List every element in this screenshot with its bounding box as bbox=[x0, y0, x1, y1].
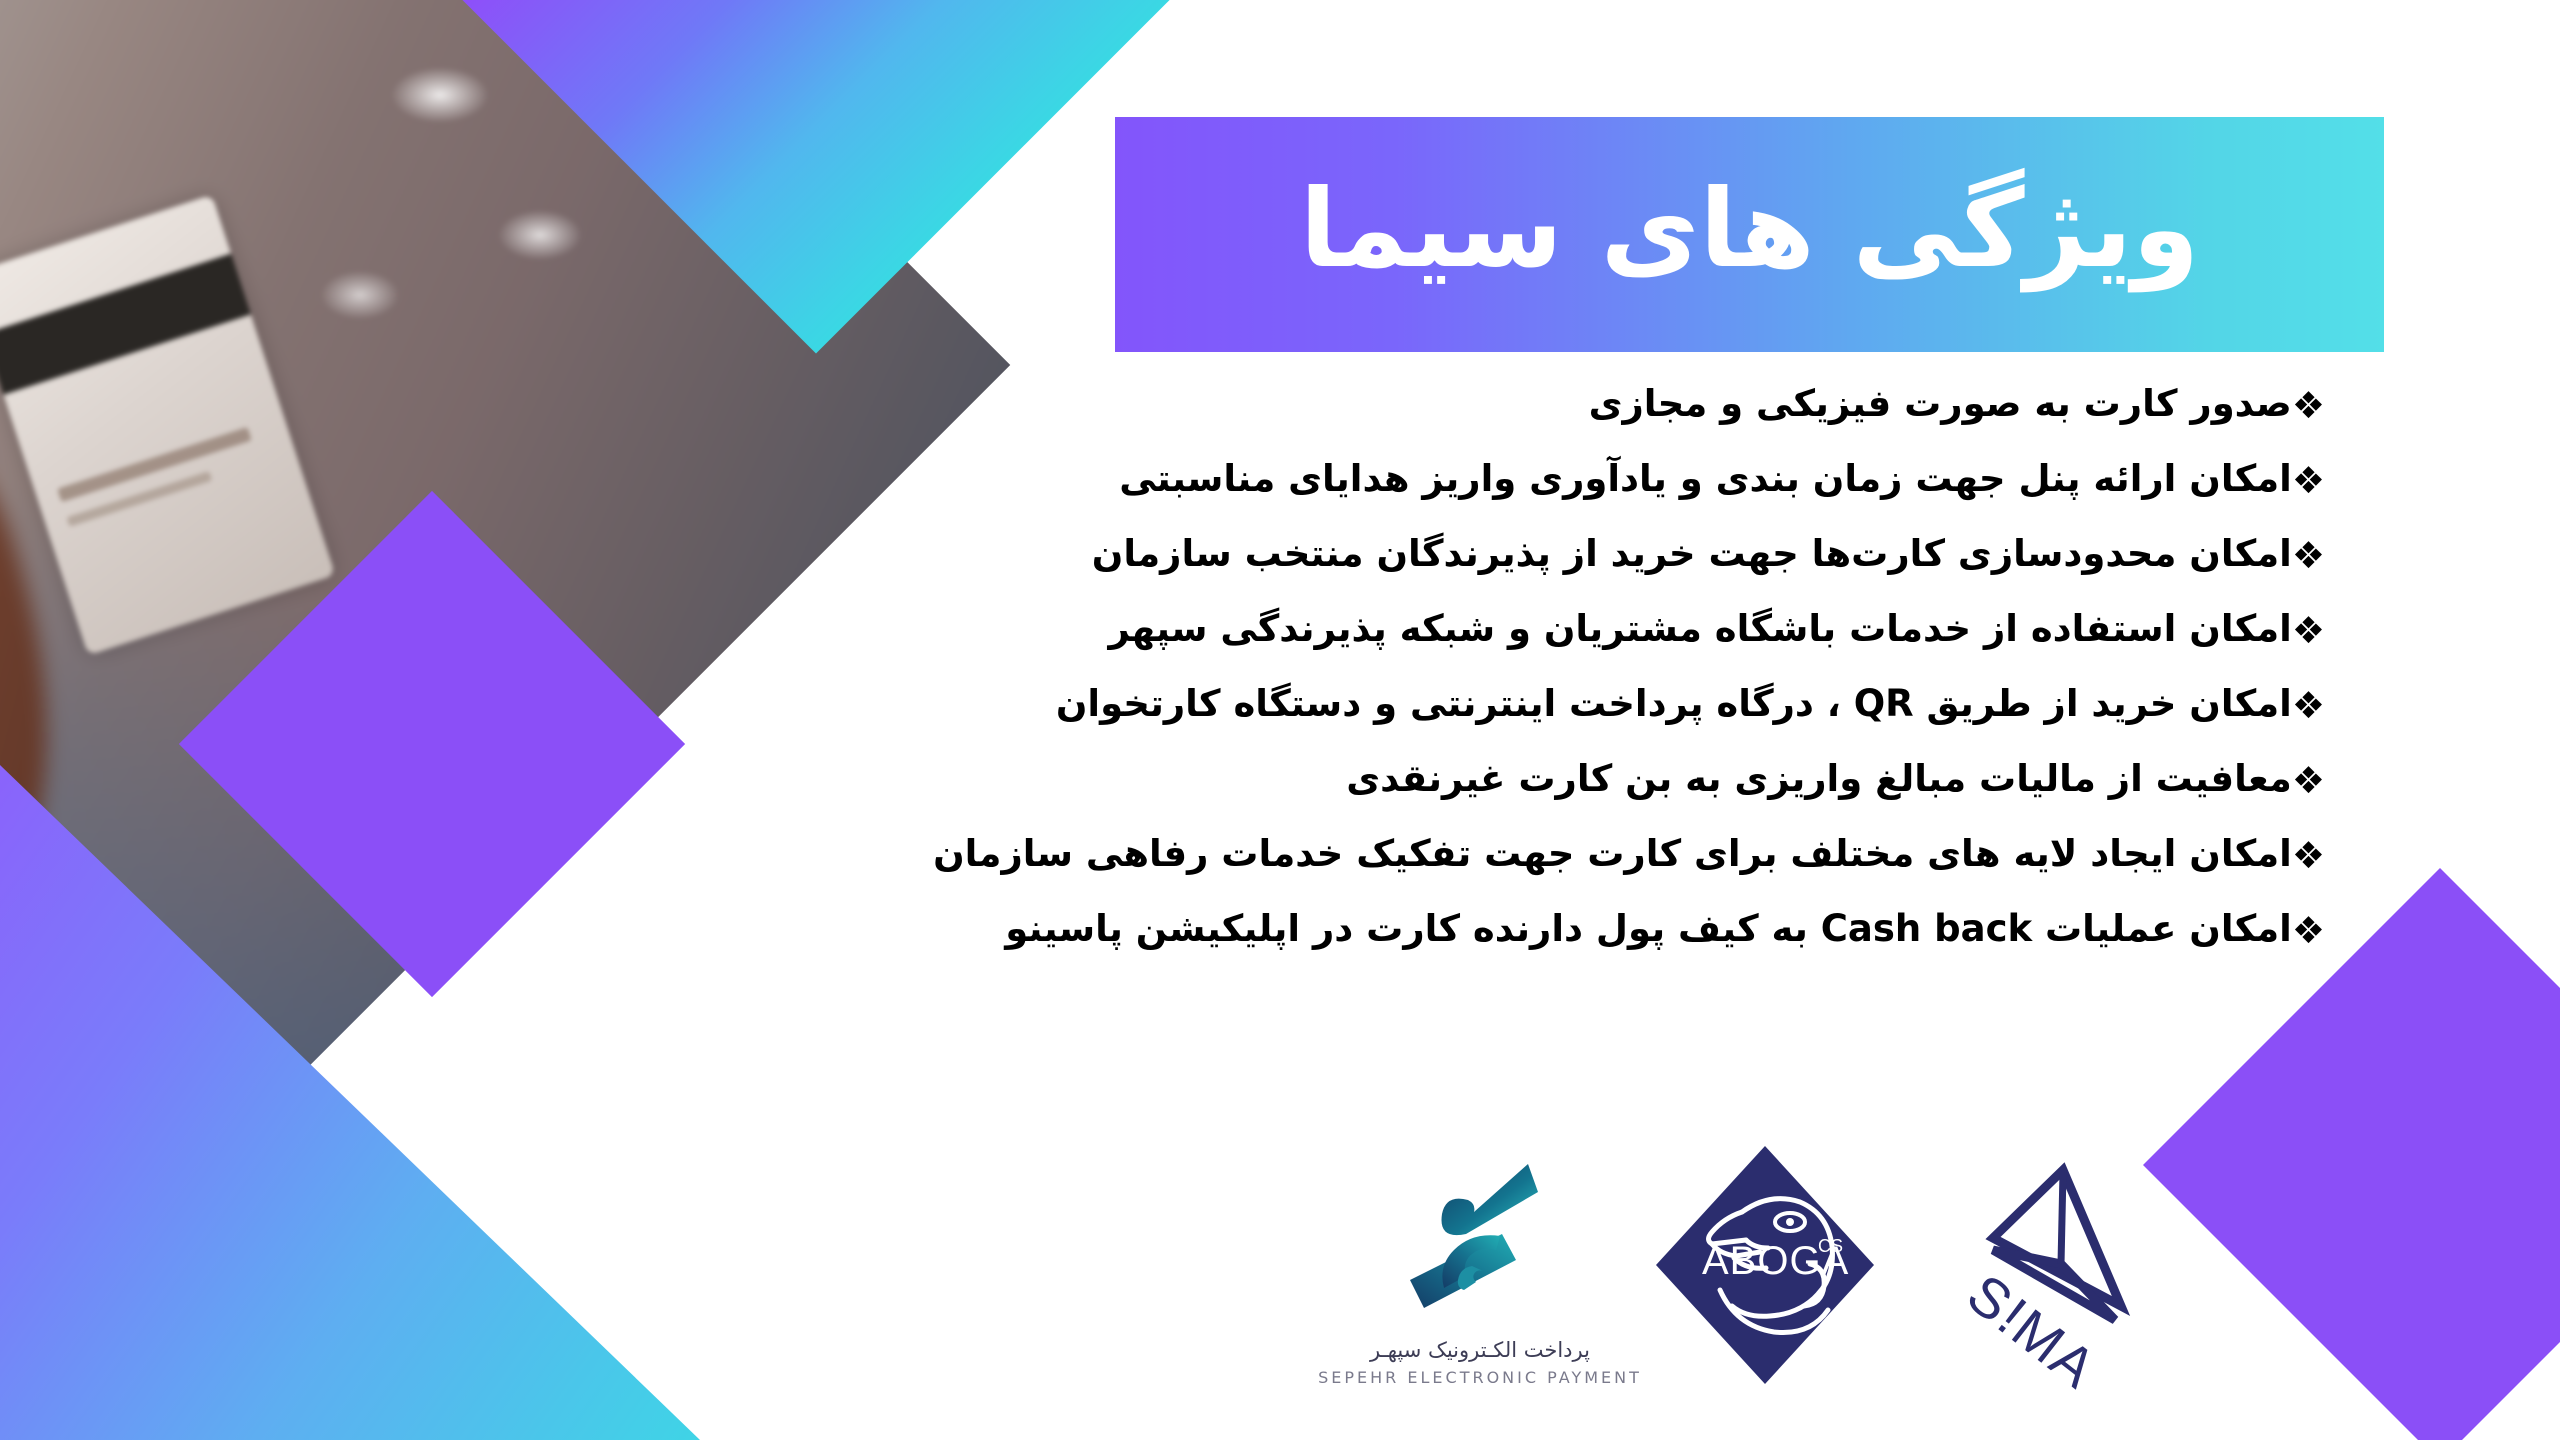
sima-wordmark: S!MA bbox=[1956, 1262, 2109, 1396]
list-item-label: امکان ارائه پنل جهت زمان بندی و یادآوری … bbox=[1119, 457, 2292, 500]
list-item-label: امکان خرید از طریق QR ، درگاه پرداخت این… bbox=[1056, 682, 2292, 725]
page-title: ویژگی های سیما bbox=[1300, 176, 2200, 294]
diamond-bullet-icon: ❖ bbox=[2292, 762, 2325, 799]
purple-triangle-bottom-right bbox=[2143, 868, 2560, 1440]
logo-aboga: ABOGA CS ABOGA CS bbox=[1640, 1140, 1890, 1390]
diamond-bullet-icon: ❖ bbox=[2292, 837, 2325, 874]
logo-strip: پرداخت الکـترونیک سپهـر SEPEHR ELECTRONI… bbox=[1355, 1140, 2175, 1430]
card-magnetic-stripe bbox=[0, 254, 251, 395]
logo-sima: S!MA S!MA bbox=[1925, 1140, 2175, 1396]
aboga-eagle-diamond-icon: ABOGA CS bbox=[1650, 1140, 1880, 1390]
list-item-label: امکان ایجاد لایه های مختلف برای کارت جهت… bbox=[933, 832, 2292, 875]
diamond-bullet-icon: ❖ bbox=[2292, 687, 2325, 724]
list-item: ❖امکان ارائه پنل جهت زمان بندی و یادآوری… bbox=[665, 460, 2325, 497]
sepehr-logo-icon bbox=[1380, 1148, 1580, 1328]
list-item-label: امکان استفاده از خدمات باشگاه مشتریان و … bbox=[1109, 607, 2292, 650]
list-item: ❖امکان عملیات Cash back به کیف پول دارند… bbox=[665, 910, 2325, 947]
sepehr-name-en: SEPEHR ELECTRONIC PAYMENT bbox=[1318, 1368, 1642, 1387]
features-list: ❖صدور کارت به صورت فیزیکی و مجازی ❖امکان… bbox=[665, 385, 2325, 947]
list-item: ❖امکان استفاده از خدمات باشگاه مشتریان و… bbox=[665, 610, 2325, 647]
diamond-bullet-icon: ❖ bbox=[2292, 612, 2325, 649]
list-item: ❖امکان ایجاد لایه های مختلف برای کارت جه… bbox=[665, 835, 2325, 872]
slide-canvas: ویژگی های سیما ❖صدور کارت به صورت فیزیکی… bbox=[0, 0, 2560, 1440]
sepehr-name-fa: پرداخت الکـترونیک سپهـر bbox=[1370, 1338, 1590, 1362]
list-item-label: امکان عملیات Cash back به کیف پول دارنده… bbox=[1005, 907, 2292, 950]
list-item: ❖معافیت از مالیات مبالغ واریزی به بن کار… bbox=[665, 760, 2325, 797]
logo-sepehr: پرداخت الکـترونیک سپهـر SEPEHR ELECTRONI… bbox=[1355, 1140, 1605, 1387]
diamond-bullet-icon: ❖ bbox=[2292, 537, 2325, 574]
credit-card-shape bbox=[0, 195, 335, 656]
sima-logo-icon: S!MA bbox=[1935, 1146, 2165, 1396]
title-banner: ویژگی های سیما bbox=[1115, 117, 2384, 352]
list-item: ❖امکان خرید از طریق QR ، درگاه پرداخت ای… bbox=[665, 685, 2325, 722]
list-item-label: معافیت از مالیات مبالغ واریزی به بن کارت… bbox=[1346, 757, 2292, 800]
diamond-bullet-icon: ❖ bbox=[2292, 462, 2325, 499]
list-item: ❖صدور کارت به صورت فیزیکی و مجازی bbox=[665, 385, 2325, 422]
list-item: ❖امکان محدودسازی کارت‌ها جهت خرید از پذی… bbox=[665, 535, 2325, 572]
aboga-superscript: CS bbox=[1818, 1236, 1843, 1256]
list-item-label: امکان محدودسازی کارت‌ها جهت خرید از پذیر… bbox=[1092, 532, 2292, 575]
list-item-label: صدور کارت به صورت فیزیکی و مجازی bbox=[1589, 382, 2292, 425]
diamond-bullet-icon: ❖ bbox=[2292, 387, 2325, 424]
diamond-bullet-icon: ❖ bbox=[2292, 912, 2325, 949]
